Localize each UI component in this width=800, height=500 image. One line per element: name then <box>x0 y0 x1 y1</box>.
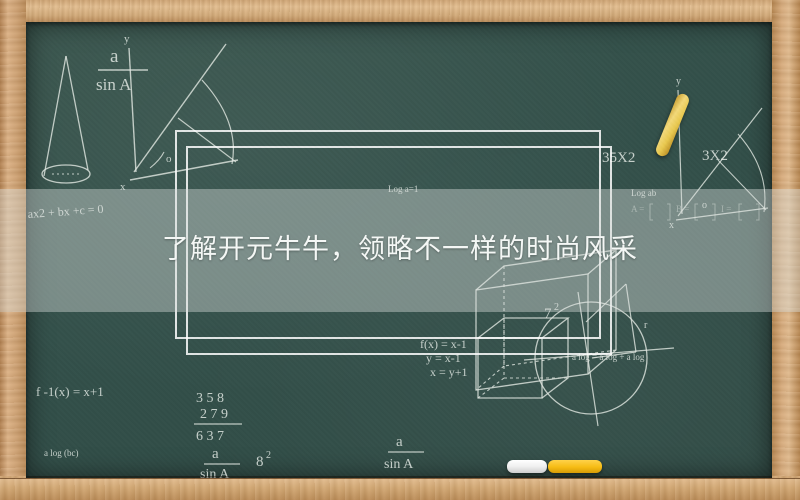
frame-top-rail <box>0 0 800 22</box>
log-bc-label: a log (bc) <box>44 448 78 458</box>
eight-base: 8 <box>256 454 264 470</box>
angle-label-o-right: o <box>702 200 707 211</box>
chalk-yellow-icon <box>548 460 602 473</box>
angle-label-o: o <box>166 153 172 165</box>
inverse-function: f -1(x) = x+1 <box>36 384 104 399</box>
axis-label-x: x <box>120 181 126 193</box>
fraction2-sina: sin A <box>384 457 414 472</box>
axis-label-y: y <box>124 33 130 45</box>
chalk-white-icon <box>507 460 547 473</box>
matrix-i-label: I = <box>721 204 731 214</box>
circle-angle-label: r <box>644 320 648 331</box>
multiplication-3x2: 3X2 <box>702 148 728 164</box>
sum-row-3: 6 3 7 <box>196 429 224 444</box>
fraction3-a-num: a <box>212 446 219 462</box>
addition-column: 3 5 8 2 7 9 6 3 7 <box>194 391 242 444</box>
equation-x: x = y+1 <box>430 365 468 379</box>
chalk-tray <box>0 478 800 500</box>
fraction-sina-denominator: sin A <box>96 75 132 94</box>
matrix-a-label: A = <box>631 204 644 214</box>
quadratic-equation: ax2 + bx +c = 0 <box>27 202 104 221</box>
log-right-label: Log ab <box>631 188 657 198</box>
axis-label-x-right: x <box>669 220 674 231</box>
fraction-a-numerator: a <box>110 46 119 67</box>
axis-label-y-right: y <box>676 76 681 87</box>
page-title: 了解开元牛牛，领略不一样的时尚风采 <box>0 231 800 269</box>
chalkboard-banner: a sin A ax2 + bx +c = 0 y x o y x <box>0 0 800 500</box>
sum-row-2: 2 7 9 <box>200 407 228 422</box>
sum-row-1: 3 5 8 <box>196 391 224 406</box>
eight-exponent: 2 <box>266 450 271 461</box>
matrix-b-label: B = <box>676 204 689 214</box>
cone-drawing <box>42 56 90 183</box>
fraction2-a-num: a <box>396 434 403 450</box>
